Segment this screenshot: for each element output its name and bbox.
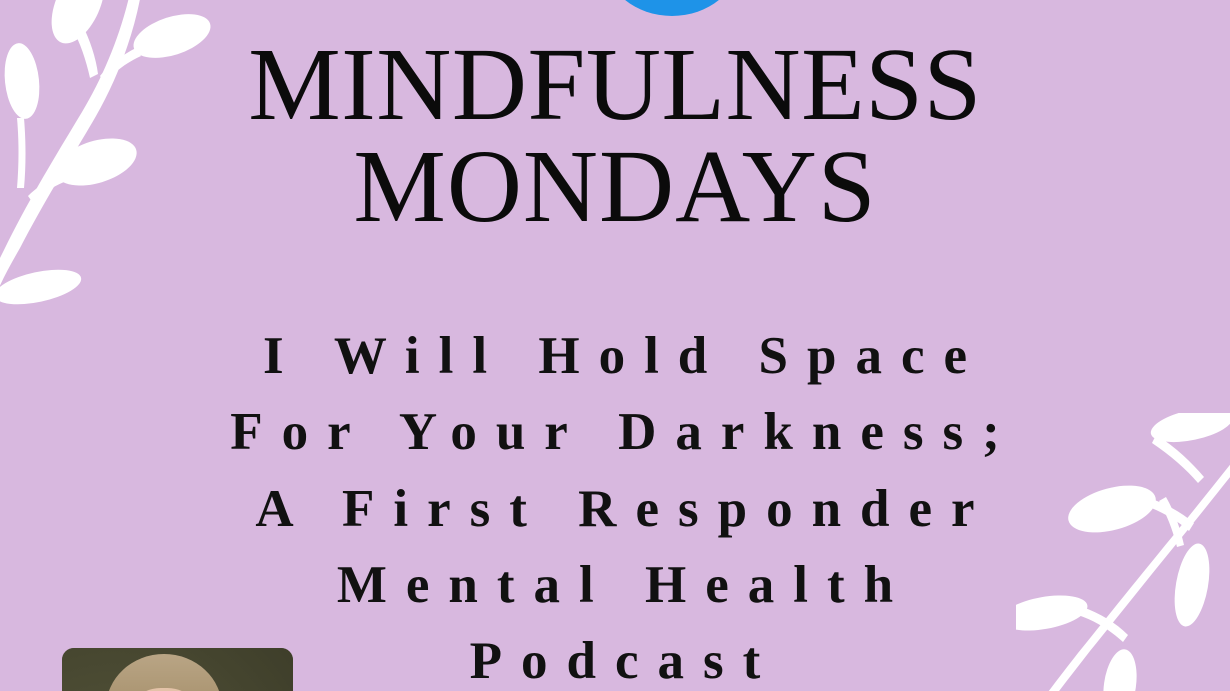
subtitle-line-1: I Will Hold Space bbox=[0, 318, 1230, 394]
title-line-2: MONDAYS bbox=[0, 136, 1230, 238]
title-line-1: MINDFULNESS bbox=[0, 34, 1230, 136]
podcast-cover-poster: MINDFULNESS MONDAYS I Will Hold Space Fo… bbox=[0, 0, 1230, 691]
subtitle-line-4: Mental Health bbox=[0, 547, 1230, 623]
subtitle-line-3: A First Responder bbox=[0, 471, 1230, 547]
blue-circle-shape bbox=[605, 0, 739, 16]
subtitle-line-2: For Your Darkness; bbox=[0, 394, 1230, 470]
poster-subtitle: I Will Hold Space For Your Darkness; A F… bbox=[0, 318, 1230, 691]
host-headshot-photo bbox=[62, 648, 293, 691]
poster-title: MINDFULNESS MONDAYS bbox=[0, 34, 1230, 238]
